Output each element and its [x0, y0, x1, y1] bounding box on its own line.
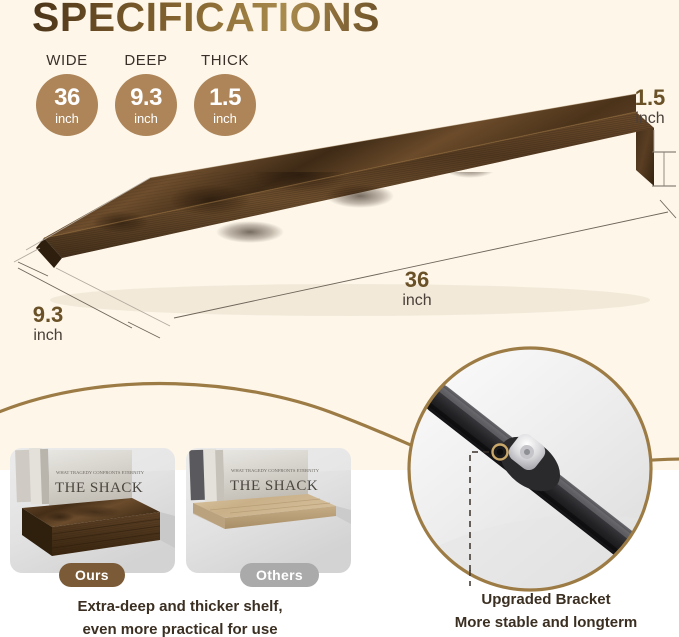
bracket-caption: Upgraded Bracket More stable and longter… — [415, 588, 677, 635]
dimension-thickness-value: 1.5 — [622, 86, 678, 109]
spec-unit-wide: inch — [55, 112, 79, 125]
badge-others: Others — [240, 563, 319, 587]
spec-circle-thick: 1.5 inch — [194, 74, 256, 136]
dimension-depth: 9.3 inch — [8, 303, 88, 345]
spec-circle-wide: 36 inch — [36, 74, 98, 136]
spec-value-thick: 1.5 — [209, 86, 241, 110]
spec-label-deep: DEEP — [124, 52, 167, 69]
spec-value-deep: 9.3 — [130, 86, 162, 110]
spec-value-wide: 36 — [54, 86, 80, 110]
bracket-caption-line1: Upgraded Bracket — [415, 588, 677, 611]
comparison-caption: Extra-deep and thicker shelf, even more … — [0, 596, 360, 637]
page-title: SPECIFICATIONS — [32, 0, 380, 41]
spec-unit-deep: inch — [134, 112, 158, 125]
comparison-caption-line2: even more practical for use — [0, 619, 360, 637]
bracket-caption-line2: More stable and longterm — [415, 611, 677, 634]
spec-badge-wide: WIDE 36 inch — [34, 52, 100, 142]
dimension-width: 36 inch — [372, 268, 462, 310]
dimension-thickness-unit: inch — [622, 111, 678, 128]
spec-label-wide: WIDE — [46, 52, 88, 69]
spec-badge-deep: DEEP 9.3 inch — [113, 52, 179, 142]
background-cream — [0, 0, 679, 470]
dimension-thickness: 1.5 inch — [622, 86, 678, 128]
dimension-depth-value: 9.3 — [8, 303, 88, 326]
dimension-width-value: 36 — [372, 268, 462, 291]
spec-circle-deep: 9.3 inch — [115, 74, 177, 136]
dimension-width-unit: inch — [372, 293, 462, 310]
dimension-depth-unit: inch — [8, 328, 88, 345]
specification-infographic: WHAT TRAGEDY CONFRONTS ETERNITY THE SHAC… — [0, 0, 679, 637]
spec-unit-thick: inch — [213, 112, 237, 125]
comparison-caption-line1: Extra-deep and thicker shelf, — [0, 596, 360, 619]
spec-badge-thick: THICK 1.5 inch — [192, 52, 258, 142]
spec-label-thick: THICK — [201, 52, 249, 69]
badge-ours: Ours — [59, 563, 125, 587]
